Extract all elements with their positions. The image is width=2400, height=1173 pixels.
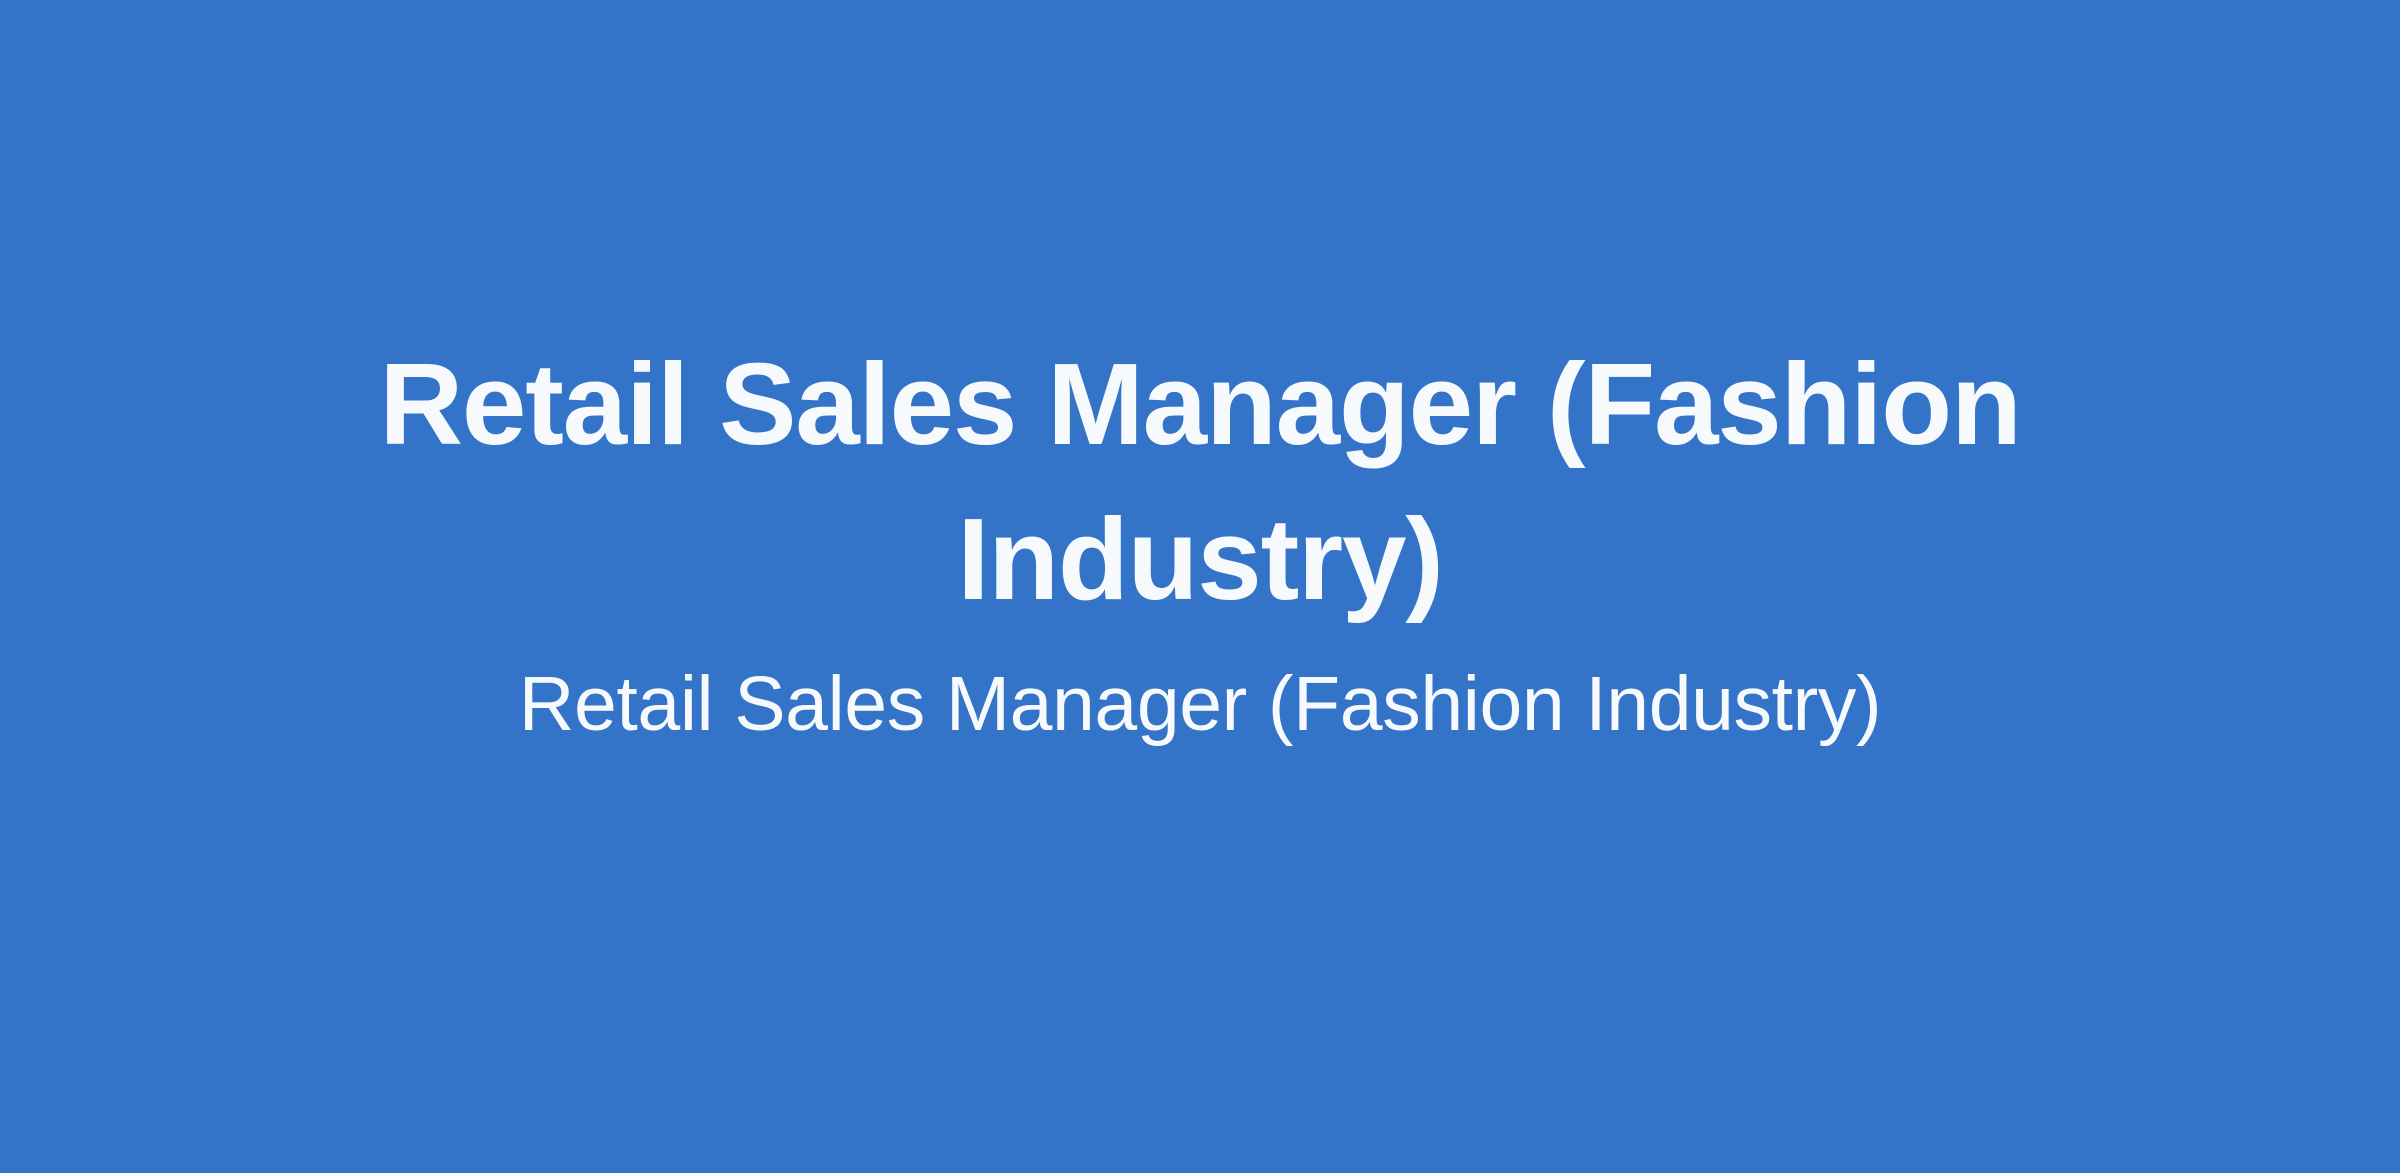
page-subtitle: Retail Sales Manager (Fashion Industry) [370,658,2030,750]
title-text-block: Retail Sales Manager (Fashion Industry) … [370,327,2030,750]
title-card: Retail Sales Manager (Fashion Industry) … [0,0,2400,1173]
page-title: Retail Sales Manager (Fashion Industry) [370,327,2030,638]
